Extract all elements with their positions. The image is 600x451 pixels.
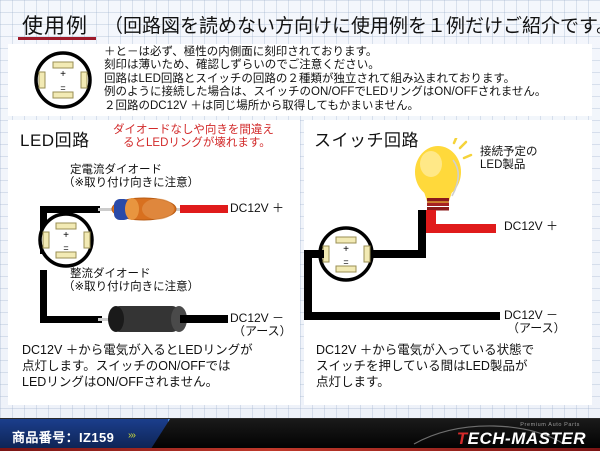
switch-footer-line-1: DC12V ＋から電気が入っている状態で: [316, 342, 534, 359]
info-line-4: 例のように接続した場合は、スイッチのON/OFFでLEDリングはON/OFFされ…: [104, 86, 590, 99]
page-title: 使用例: [22, 10, 88, 40]
title-underline: [18, 37, 96, 40]
info-line-1: ＋と－は必ず、極性の内側面に刻印されております。: [104, 46, 590, 59]
led-circuit-panel: LED回路 ダイオードなしや向きを間違え るとLEDリングが壊れます。 定電流ダ…: [8, 120, 300, 405]
led-dc12v-plus-label: DC12V ＋: [230, 202, 284, 216]
page-subtitle: （回路図を読めない方向けに使用例を１例だけご紹介です。）: [104, 11, 600, 38]
svg-text:+: +: [343, 244, 349, 255]
switch-circuit-panel: スイッチ回路 接続予定の LED製品: [304, 120, 592, 405]
screenshot-root: 使用例 （回路図を読めない方向けに使用例を１例だけご紹介です。） + = ＋と－…: [0, 0, 600, 450]
chevrons-icon: ›››: [128, 430, 135, 441]
brand-tagline: Premium Auto Parts: [520, 422, 580, 428]
switch-footer-line-2: スイッチを押している間はLED製品が: [316, 358, 527, 375]
switch-ground-label: （アース）: [507, 322, 566, 336]
svg-text:+: +: [63, 230, 69, 241]
page-header: 使用例 （回路図を読めない方向けに使用例を１例だけご紹介です。）: [0, 4, 600, 40]
bottom-bar: 商品番号：IZ159 ››› Premium Auto Parts TECH-M…: [0, 418, 600, 451]
rectifier-diode-note: （※取り付け向きに注意）: [63, 281, 199, 295]
constant-current-diode: [112, 198, 176, 220]
connector-diagram-icon: + =: [20, 48, 106, 112]
svg-text:=: =: [63, 243, 68, 253]
switch-dc12v-plus-label: DC12V ＋: [504, 220, 558, 234]
switch-footer-line-3: 点灯します。: [316, 374, 390, 391]
info-line-3: 回路はLED回路とスイッチの回路の２種類が独立されて組み込まれております。: [104, 73, 590, 86]
brand-initial: T: [457, 429, 468, 448]
info-line-5: ２回路のDC12V ＋は同じ場所から取得してもかまいません。: [104, 100, 590, 113]
rectifier-diode-label: 整流ダイオード: [70, 268, 151, 282]
led-ground-label: （アース）: [233, 325, 292, 339]
brand-logo: Premium Auto Parts TECH-MASTER: [376, 424, 586, 448]
brand-rest: ECH-MASTER: [468, 429, 586, 448]
info-paragraph: ＋と－は必ず、極性の内側面に刻印されております。 刻印は薄いため、確認しずらいの…: [104, 46, 590, 113]
svg-text:=: =: [343, 257, 348, 267]
svg-text:=: =: [60, 83, 65, 93]
brand-name: TECH-MASTER: [457, 429, 586, 449]
info-line-2: 刻印は薄いため、確認しずらいのでご注意ください。: [104, 59, 590, 72]
info-panel: + = ＋と－は必ず、極性の内側面に刻印されております。 刻印は薄いため、確認し…: [8, 44, 592, 116]
led-footer-line-2: 点灯します。スイッチのON/OFFでは: [22, 358, 230, 375]
rectifier-diode: [108, 306, 187, 332]
svg-text:+: +: [60, 69, 66, 80]
sku-label: 商品番号：IZ159: [12, 427, 114, 446]
led-footer-line-3: LEDリングはON/OFFされません。: [22, 374, 218, 391]
led-footer-line-1: DC12V ＋から電気が入るとLEDリングが: [22, 342, 253, 359]
